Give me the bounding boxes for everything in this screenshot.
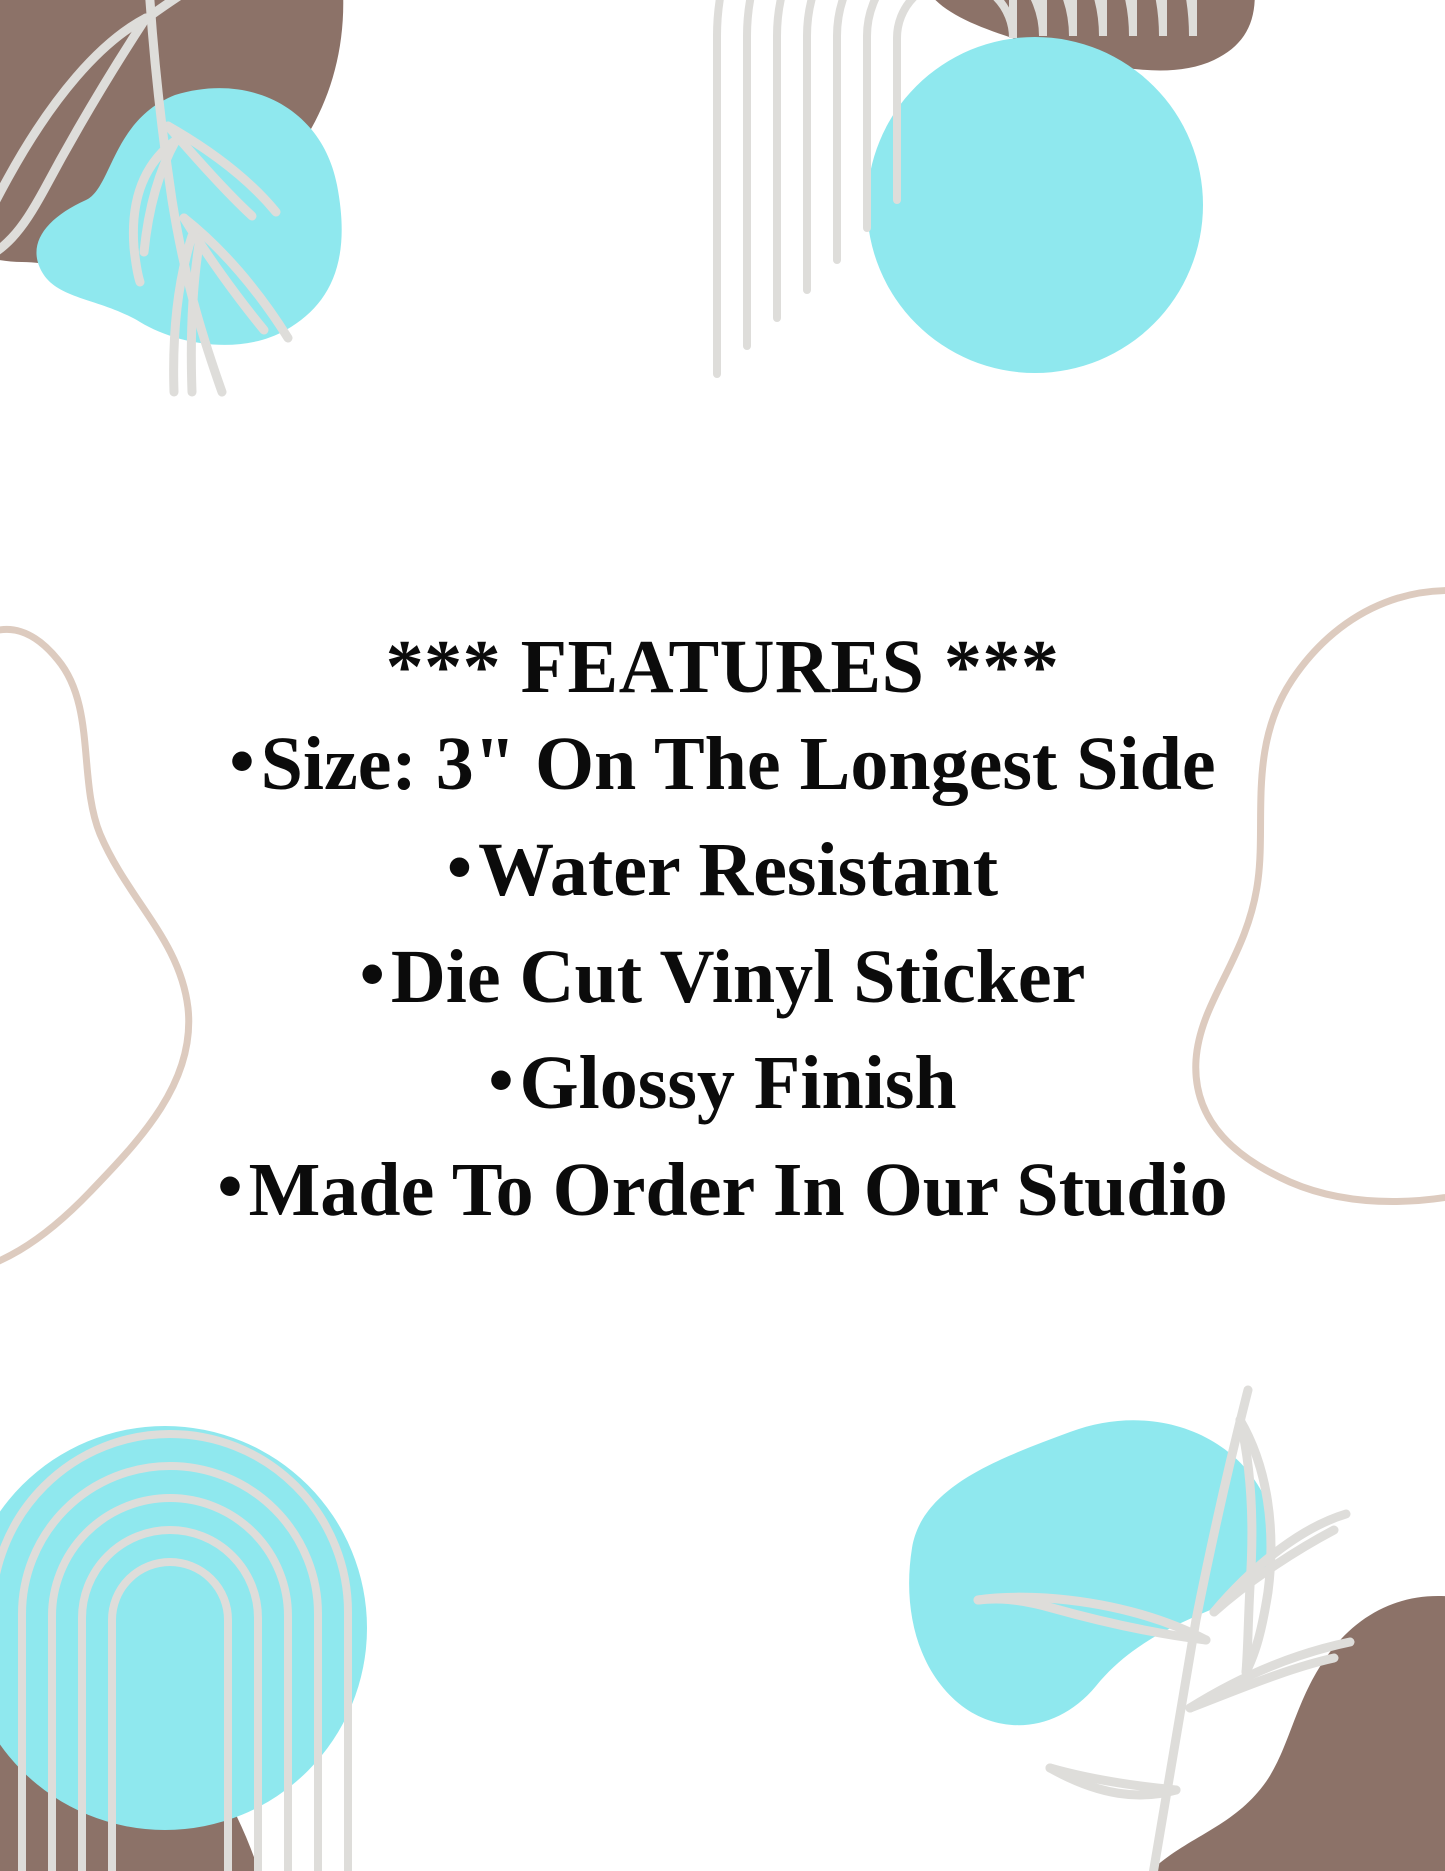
features-block: *** FEATURES *** •Size: 3" On The Longes… [53, 628, 1393, 1243]
bullet-icon: • [360, 938, 385, 1010]
feature-item-label: Made To Order In Our Studio [249, 1148, 1228, 1232]
feature-item: •Die Cut Vinyl Sticker [53, 924, 1393, 1030]
feature-item: •Water Resistant [53, 817, 1393, 923]
bullet-icon: • [447, 831, 472, 903]
feature-item: •Glossy Finish [53, 1030, 1393, 1136]
feature-item: •Made To Order In Our Studio [53, 1137, 1393, 1243]
bullet-icon: • [229, 725, 254, 797]
feature-item-label: Die Cut Vinyl Sticker [391, 935, 1086, 1019]
poster-content: *** FEATURES *** •Size: 3" On The Longes… [0, 0, 1445, 1871]
bullet-icon: • [217, 1150, 242, 1222]
feature-item-label: Glossy Finish [520, 1041, 957, 1125]
feature-item-label: Size: 3" On The Longest Side [261, 722, 1216, 806]
features-title: *** FEATURES *** [53, 628, 1393, 707]
feature-item-label: Water Resistant [478, 828, 998, 912]
bullet-icon: • [488, 1044, 513, 1116]
features-list: •Size: 3" On The Longest Side •Water Res… [53, 711, 1393, 1243]
poster-canvas: *** FEATURES *** •Size: 3" On The Longes… [0, 0, 1445, 1871]
feature-item: •Size: 3" On The Longest Side [53, 711, 1393, 817]
